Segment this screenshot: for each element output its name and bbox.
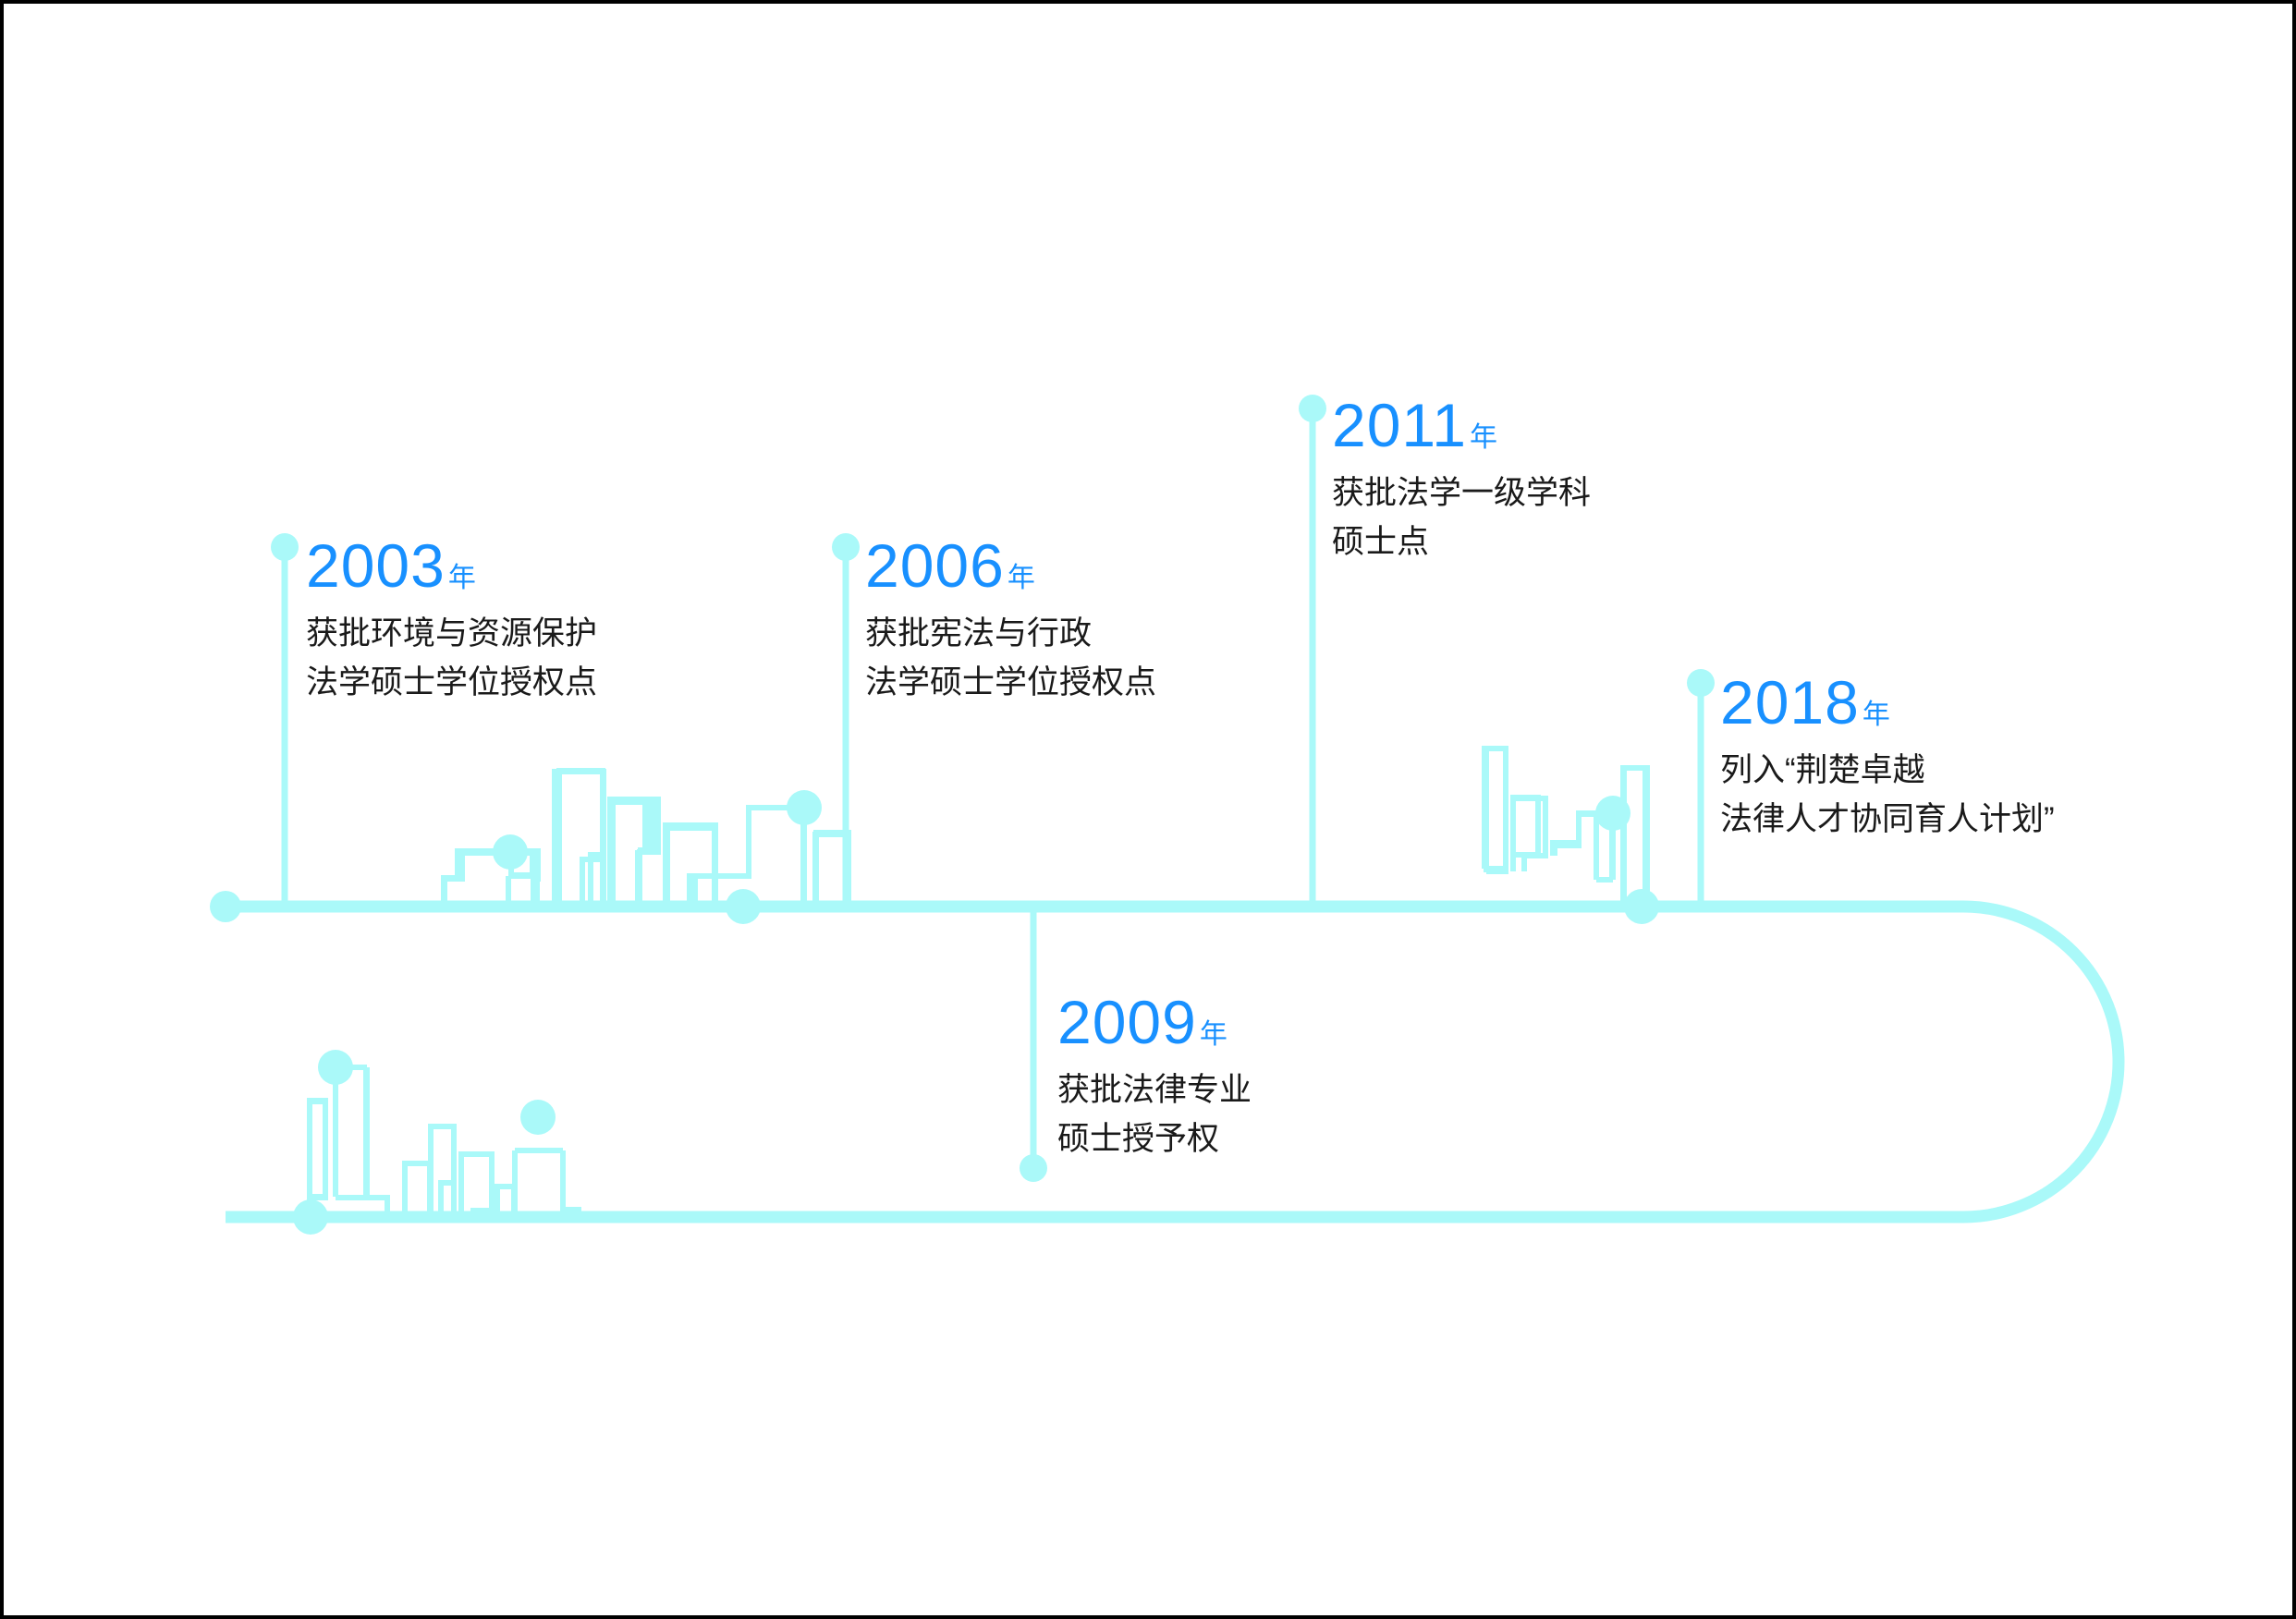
year-suffix: 年 [1862,700,1890,730]
connector-dot-2006 [832,533,860,561]
skyline-dot-3 [726,889,761,924]
desc-line: 获批环境与资源保护 [306,609,597,658]
skyline-dot-1 [493,834,528,870]
connector-dot-2011 [1299,395,1326,422]
connector-dot-2009 [1020,1154,1047,1182]
skyline-dot-5 [1624,889,1659,924]
timeline-event-2011[interactable]: 2011年 获批法学一级学科 硕士点 [1332,395,1591,566]
skyline-dot-4 [1595,796,1630,831]
desc-line: 硕士授予权 [1057,1114,1252,1163]
desc-line: 列入“荆楚卓越 [1720,746,2055,795]
year-suffix: 年 [1470,422,1497,453]
skyline-dot-6 [318,1050,353,1085]
event-year-2009: 2009年 [1057,992,1252,1053]
year-number: 2003 [306,531,446,600]
desc-line: 法学硕士学位授权点 [306,658,597,707]
timeline-start-dot [210,891,241,922]
timeline-infographic: 2003年 获批环境与资源保护 法学硕士学位授权点 2006年 获批宪法与行政 … [0,0,2296,1619]
timeline-event-2018[interactable]: 2018年 列入“荆楚卓越 法律人才协同育人计划” [1720,672,2055,844]
desc-line: 法律人才协同育人计划” [1720,795,2055,844]
year-number: 2009 [1057,988,1197,1056]
timeline-event-2009[interactable]: 2009年 获批法律专业 硕士授予权 [1057,992,1252,1163]
event-description-2018: 列入“荆楚卓越 法律人才协同育人计划” [1720,746,2055,844]
skyline-dot-2 [787,790,822,825]
event-description-2011: 获批法学一级学科 硕士点 [1332,469,1591,566]
skyline-dot-7 [293,1199,328,1235]
event-year-2018: 2018年 [1720,672,2055,733]
event-description-2006: 获批宪法与行政 法学硕士学位授权点 [865,609,1156,707]
desc-line: 获批法律专业 [1057,1065,1252,1114]
year-suffix: 年 [448,563,476,593]
year-suffix: 年 [1008,563,1035,593]
event-year-2006: 2006年 [865,535,1156,596]
connector-dot-2018 [1687,669,1715,697]
desc-line: 获批宪法与行政 [865,609,1156,658]
year-number: 2006 [865,531,1005,600]
year-number: 2011 [1332,391,1467,459]
timeline-event-2006[interactable]: 2006年 获批宪法与行政 法学硕士学位授权点 [865,535,1156,707]
year-suffix: 年 [1200,1019,1227,1050]
timeline-event-2003[interactable]: 2003年 获批环境与资源保护 法学硕士学位授权点 [306,535,597,707]
year-number: 2018 [1720,668,1860,736]
desc-line: 法学硕士学位授权点 [865,658,1156,707]
event-description-2003: 获批环境与资源保护 法学硕士学位授权点 [306,609,597,707]
event-year-2011: 2011年 [1332,395,1591,456]
event-year-2003: 2003年 [306,535,597,596]
event-description-2009: 获批法律专业 硕士授予权 [1057,1065,1252,1163]
desc-line: 获批法学一级学科 [1332,469,1591,517]
skyline-dot-8 [520,1100,556,1135]
desc-line: 硕士点 [1332,517,1591,566]
connector-dot-2003 [271,533,299,561]
